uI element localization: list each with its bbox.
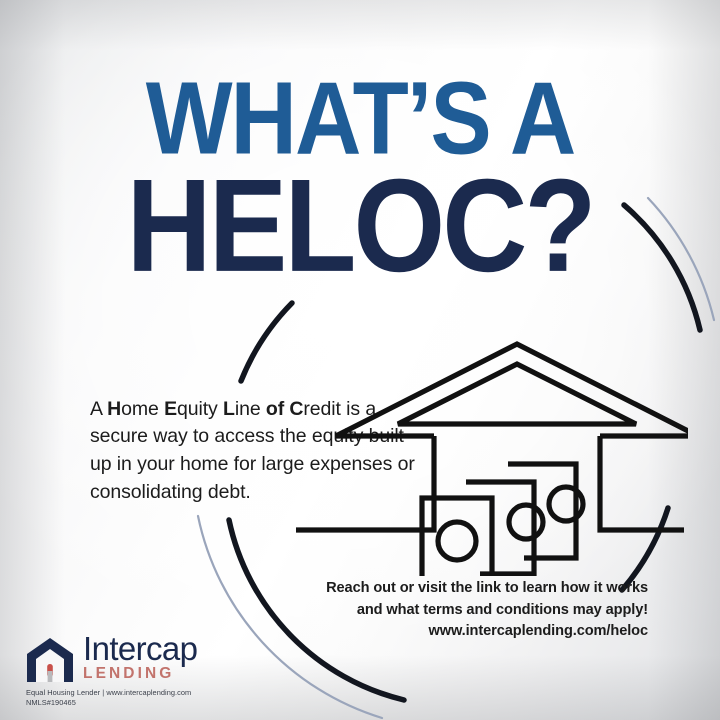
left-wall xyxy=(296,436,434,530)
house-logo-icon xyxy=(26,637,74,683)
cta-website-link[interactable]: www.intercaplending.com/heloc xyxy=(248,621,648,643)
body-segment-1: H xyxy=(107,398,121,420)
body-segment-5: L xyxy=(223,398,235,420)
roof-inner-triangle xyxy=(398,364,636,424)
body-segment-6: ine xyxy=(235,398,266,420)
brand-logo-block: Intercap LENDING Equal Housing Lender | … xyxy=(26,632,256,708)
arc-dark-upper-left xyxy=(241,303,292,381)
body-segment-2: ome xyxy=(121,398,164,420)
logo-tagline: LENDING xyxy=(83,666,197,682)
legal-disclaimer: Equal Housing Lender | www.intercaplendi… xyxy=(26,688,256,708)
right-wall xyxy=(600,436,684,530)
coin-middle xyxy=(509,505,543,539)
coin-front xyxy=(438,522,476,560)
heloc-infographic-poster: WHAT’S A HELOC? A Home Equity Line of Cr… xyxy=(0,0,720,720)
legal-line-1: Equal Housing Lender | www.intercaplendi… xyxy=(26,688,256,698)
body-segment-0: A xyxy=(90,398,107,420)
logo-row: Intercap LENDING xyxy=(26,632,256,683)
headline-line-2: HELOC? xyxy=(0,169,720,285)
logo-wordmark: Intercap LENDING xyxy=(83,632,197,683)
headline-line-1: WHAT’S A xyxy=(0,74,720,165)
body-segment-3: E xyxy=(164,398,177,420)
headline: WHAT’S A HELOC? xyxy=(0,74,720,273)
logo-name: Intercap xyxy=(83,632,197,665)
body-segment-4: quity xyxy=(177,398,223,420)
body-segment-7: of xyxy=(266,398,290,420)
cta-line-1: Reach out or visit the link to learn how… xyxy=(248,578,648,600)
house-illustration xyxy=(288,336,688,576)
legal-line-2: NMLS#190465 xyxy=(26,698,256,708)
call-to-action: Reach out or visit the link to learn how… xyxy=(248,578,648,643)
cta-line-2: and what terms and conditions may apply! xyxy=(248,600,648,622)
